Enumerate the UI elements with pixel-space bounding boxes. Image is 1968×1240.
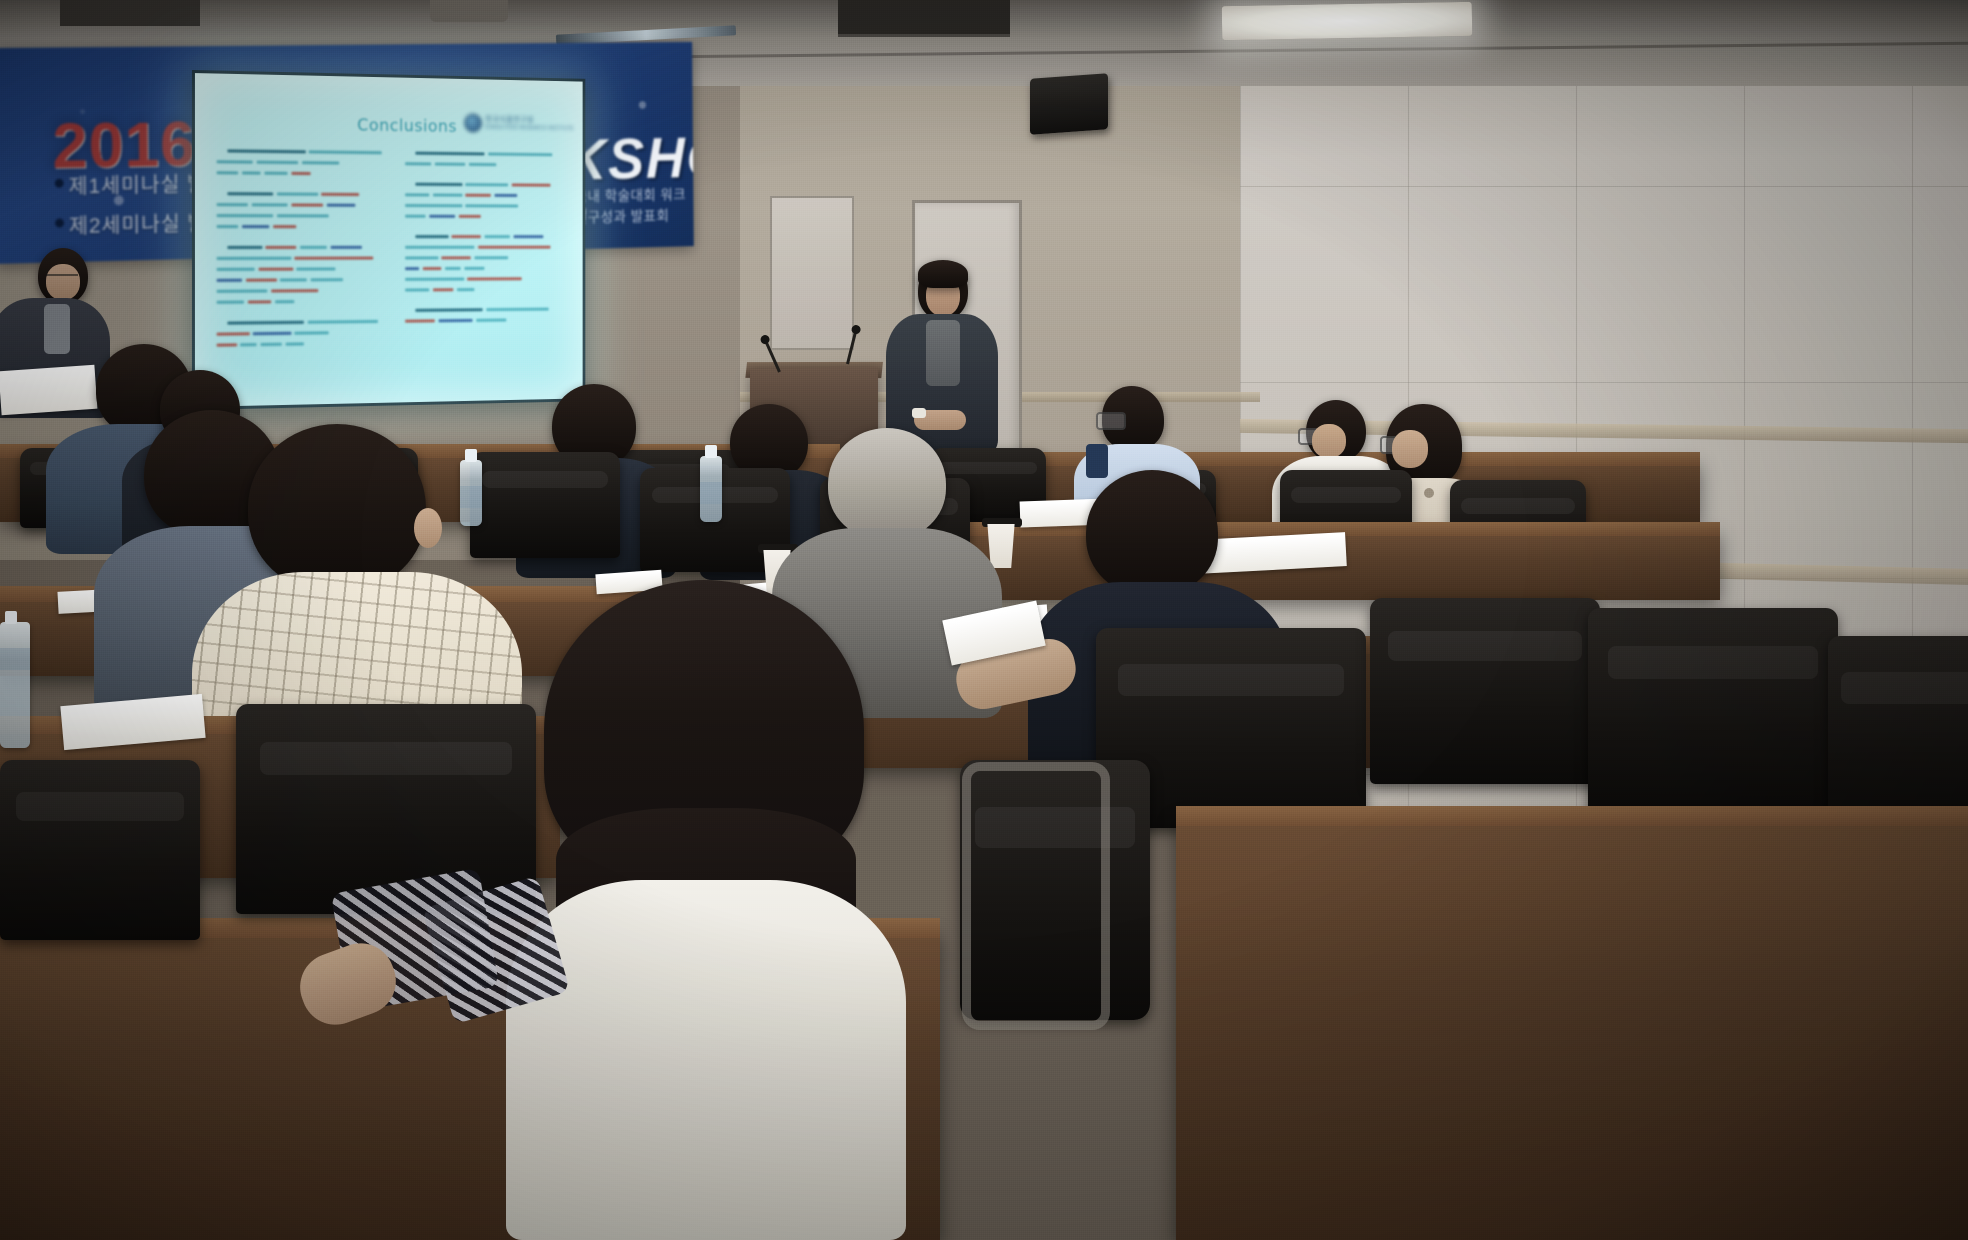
slide-text-line [405,181,575,189]
attendee-collar [1086,444,1108,478]
slide-text-line [405,160,575,168]
wall-speaker-icon [1030,73,1108,134]
coat-button-icon [1424,488,1434,498]
slide-text-line [217,212,396,219]
slide-block-gap [217,350,396,363]
slide-block-gap [405,223,575,233]
chair [1370,598,1600,784]
attendee-face [1312,424,1346,458]
slide-text-line [405,213,575,220]
attendee-face [1392,430,1428,468]
presenter-hair [918,260,968,288]
chair-frame [962,762,1110,1030]
slide-text-line [217,223,396,230]
slide-text-line [405,191,575,199]
slide-text-line [217,190,396,198]
ceiling-light-fixture [1222,2,1473,40]
slide-title: Conclusions [357,116,457,137]
slide-text-line [405,150,575,159]
water-bottle [0,622,30,748]
side-door [770,196,854,350]
slide-text-line [217,276,396,284]
institution-logo-icon [464,114,481,133]
chair [470,452,620,558]
chair [0,760,200,940]
attendee-head [1086,470,1218,596]
projector-icon [430,0,508,22]
moderator-shirt [44,304,70,354]
water-bottle [460,460,482,526]
slide-text-line [405,286,575,294]
slide-text-line [217,318,396,327]
seminar-room-photo: 2016년 제1세미나실 발표 제2세미나실 발표 KSHOP 국내 학술대회 … [0,0,1968,1240]
slide-text-line [217,169,396,177]
slide-text-line [217,158,396,167]
slide-text-line [217,339,396,348]
slide-text-line [405,254,575,261]
slide-text-line [217,255,396,262]
slide-text-line [405,306,575,314]
projection-screen: Conclusions 한국식품연구원 KOREA FOOD RESEARCH … [195,73,583,407]
projection-screen-frame: Conclusions 한국식품연구원 KOREA FOOD RESEARCH … [192,70,585,410]
slide-body [217,147,576,400]
chair [1588,608,1838,818]
moderator-glasses-icon [46,274,78,283]
attendee-long-hair-jacket [506,880,906,1240]
glasses-icon [1096,412,1126,430]
desk-row-5-right-top [1176,806,1968,826]
slide-text-line [217,287,396,295]
ceiling-vent-icon [838,0,1010,37]
attendee-ear [414,508,442,548]
presenter-shirt [926,320,960,386]
slide-text-line [217,244,396,251]
ceiling-vent-secondary-icon [60,0,200,26]
slide-text-line [217,147,396,156]
slide-text-line [217,329,396,338]
slide-block-gap [217,234,396,244]
slide-institution-logo: 한국식품연구원 KOREA FOOD RESEARCH INSTITUTE [464,114,574,134]
attendee-head [248,424,426,592]
slide-text-line [405,244,575,251]
slide-text-line [405,233,575,240]
slide-text-line [217,297,396,305]
attendee-head [828,428,946,540]
slide-column-left [217,147,396,400]
slide-text-line [405,265,575,272]
banner-workshop-text: KSHOP [567,124,694,193]
slide-text-line [217,265,396,273]
chair [236,704,536,914]
desk-row-5-right [1176,816,1968,1240]
slide-text-line [405,316,575,325]
document-handout [0,365,97,416]
slide-text-line [405,202,575,210]
slide-column-right [405,150,575,397]
water-bottle [700,456,722,522]
slide-text-line [217,201,396,209]
slide-text-line [405,275,575,283]
slide-logo-text-2: KOREA FOOD RESEARCH INSTITUTE [485,123,574,133]
banner-subtitle-2: 연구성과 발표회 [575,207,670,227]
slide-block-gap [405,326,575,338]
presenter-wristwatch-icon [912,408,926,418]
